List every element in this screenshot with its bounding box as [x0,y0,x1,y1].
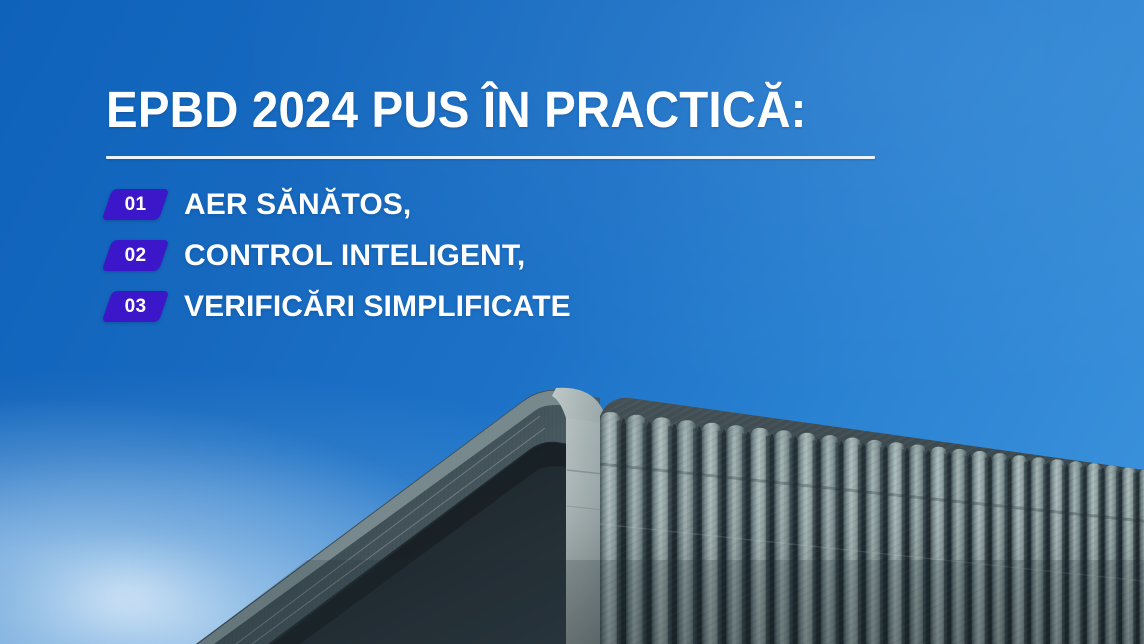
list-item: 02 CONTROL INTELIGENT, [106,230,906,281]
list-item-label: AER SĂNĂTOS, [184,188,411,222]
list-item: 01 AER SĂNĂTOS, [106,179,906,230]
badge-label: 03 [125,297,147,316]
badge-label: 01 [125,195,147,214]
badge-label: 02 [125,246,147,265]
text-block: EPBD 2024 PUS ÎN PRACTICĂ: 01 AER SĂNĂTO… [106,82,906,332]
title-divider [106,156,875,159]
badge-number-03: 03 [107,291,164,322]
badge-number-02: 02 [107,240,164,271]
list-item: 03 VERIFICĂRI SIMPLIFICATE [106,281,906,332]
poster-canvas: EPBD 2024 PUS ÎN PRACTICĂ: 01 AER SĂNĂTO… [0,0,1144,644]
badge-number-01: 01 [107,189,164,220]
page-title: EPBD 2024 PUS ÎN PRACTICĂ: [106,82,850,138]
list-item-label: CONTROL INTELIGENT, [184,239,525,273]
list-item-label: VERIFICĂRI SIMPLIFICATE [184,290,571,324]
benefits-list: 01 AER SĂNĂTOS, 02 CONTROL INTELIGENT, 0… [106,179,906,332]
